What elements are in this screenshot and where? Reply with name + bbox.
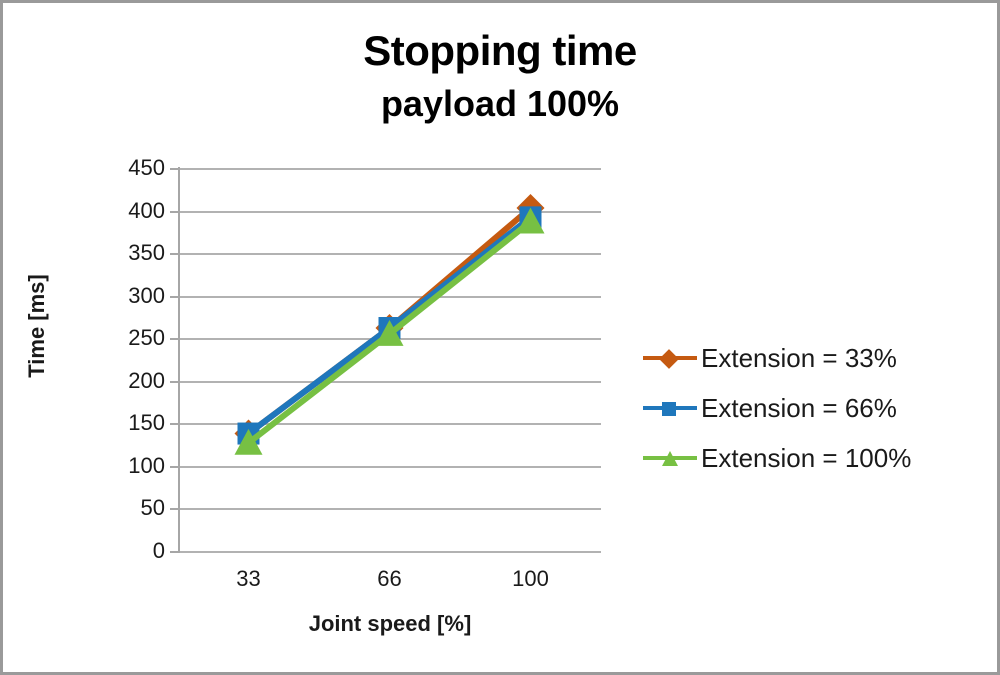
- legend-key: [643, 446, 697, 470]
- y-axis-tick: [170, 253, 178, 255]
- gridline: [178, 466, 601, 468]
- legend-label: Extension = 33%: [701, 343, 897, 374]
- y-axis-tick: [170, 381, 178, 383]
- gridline: [178, 338, 601, 340]
- x-axis-title: Joint speed [%]: [178, 611, 602, 637]
- legend-label: Extension = 66%: [701, 393, 897, 424]
- y-axis-tick-labels: 450400350300250200150100500: [99, 3, 165, 675]
- legend-key: [643, 346, 697, 370]
- gridline: [178, 168, 601, 170]
- y-axis-tick-label: 300: [103, 285, 165, 307]
- y-axis-tick: [170, 466, 178, 468]
- gridline: [178, 211, 601, 213]
- y-axis-tick-label: 350: [103, 242, 165, 264]
- legend-item[interactable]: Extension = 66%: [643, 383, 993, 433]
- y-axis-tick: [170, 296, 178, 298]
- gridline: [178, 508, 601, 510]
- y-axis-tick: [170, 211, 178, 213]
- y-axis-tick-label: 0: [103, 540, 165, 562]
- x-axis-tick-label: 33: [204, 566, 294, 592]
- y-axis-line: [178, 167, 180, 553]
- y-axis-tick-label: 450: [103, 157, 165, 179]
- gridline: [178, 551, 601, 553]
- y-axis-tick-label: 400: [103, 200, 165, 222]
- gridline: [178, 423, 601, 425]
- legend-label: Extension = 100%: [701, 443, 911, 474]
- legend-item[interactable]: Extension = 33%: [643, 333, 993, 383]
- gridline: [178, 296, 601, 298]
- y-axis-tick-label: 200: [103, 370, 165, 392]
- y-axis-tick-label: 150: [103, 412, 165, 434]
- x-axis-tick-label: 66: [345, 566, 435, 592]
- legend-square-marker-icon: [662, 402, 676, 416]
- legend-diamond-marker-icon: [659, 349, 679, 369]
- gridline: [178, 381, 601, 383]
- y-axis-tick: [170, 338, 178, 340]
- y-axis-tick: [170, 551, 178, 553]
- plot-area: [178, 168, 601, 551]
- y-axis-tick: [170, 508, 178, 510]
- y-axis-title: Time [ms]: [24, 266, 50, 386]
- y-axis-tick-label: 250: [103, 327, 165, 349]
- legend-key: [643, 396, 697, 420]
- y-axis-tick: [170, 168, 178, 170]
- gridline: [178, 253, 601, 255]
- x-axis-tick-label: 100: [486, 566, 576, 592]
- y-axis-tick-label: 50: [103, 497, 165, 519]
- legend-item[interactable]: Extension = 100%: [643, 433, 993, 483]
- chart-legend: Extension = 33%Extension = 66%Extension …: [643, 333, 993, 483]
- y-axis-tick-label: 100: [103, 455, 165, 477]
- y-axis-tick: [170, 423, 178, 425]
- chart-figure: Stopping time payload 100% Time [ms] Joi…: [0, 0, 1000, 675]
- legend-triangle-marker-icon: [662, 451, 678, 466]
